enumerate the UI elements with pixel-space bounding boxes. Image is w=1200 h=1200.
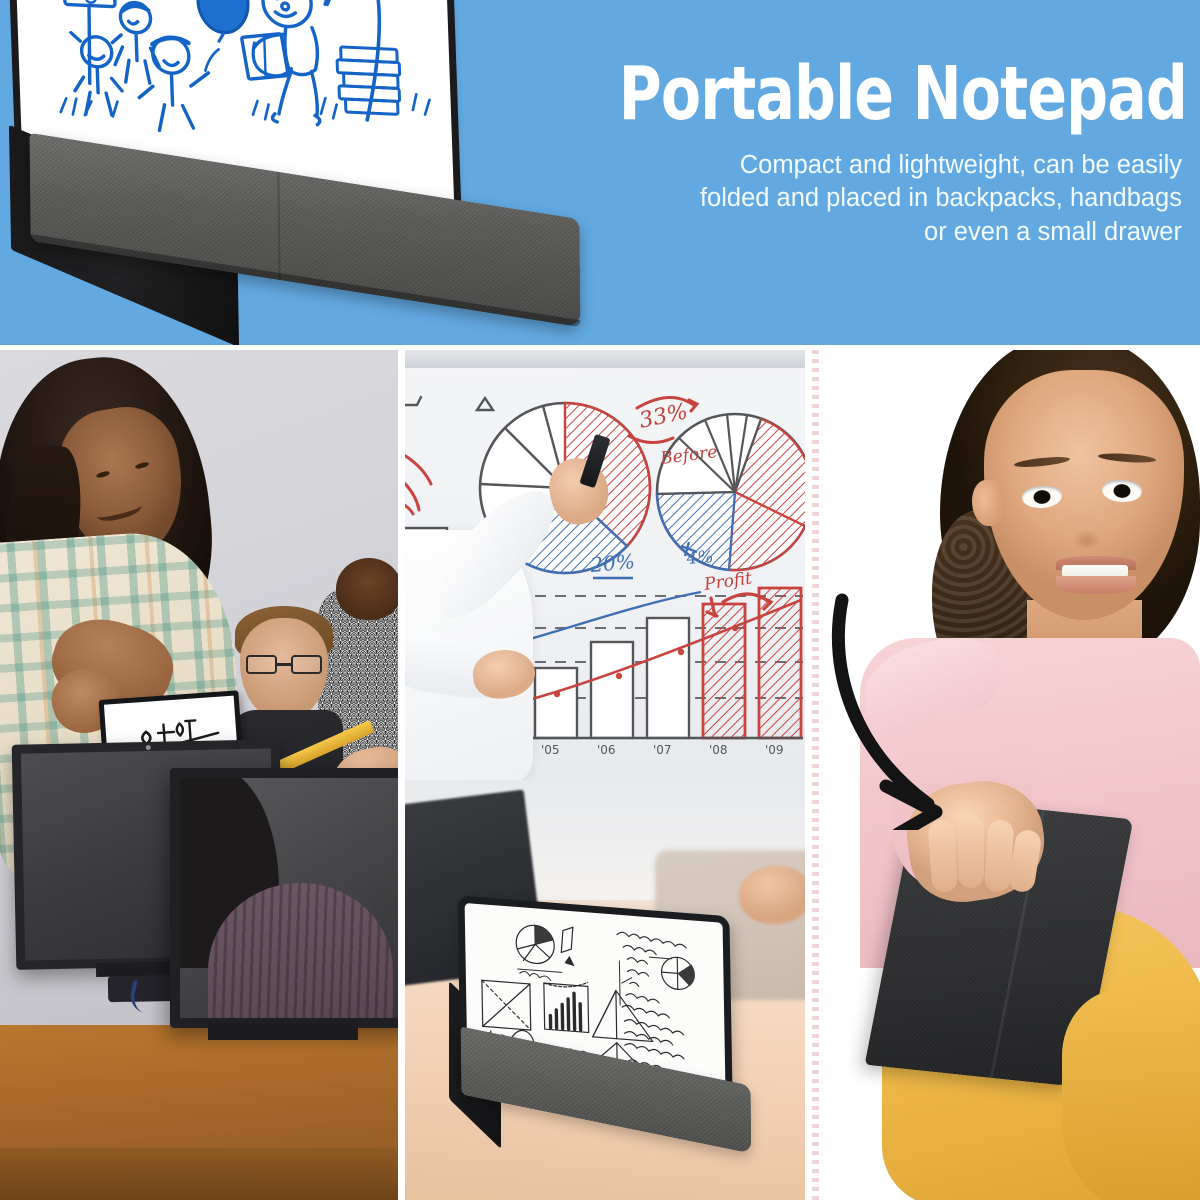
monitor-right [170,768,398,1028]
subtitle-line-1: Compact and lightweight, can be easily [542,149,1182,183]
svg-text:Profit: Profit [702,568,753,595]
hero-notepad-illustration [0,0,592,345]
yellow-bag-front [1062,990,1200,1200]
subtitle-line-3: or even a small drawer [542,216,1182,250]
svg-text:4%: 4% [685,547,714,569]
panel-girl-packing [812,350,1200,1200]
svg-text:'08: '08 [709,743,728,757]
girl-nose [1070,522,1104,548]
page-title: Portable Notepad [619,58,1182,131]
svg-text:'07: '07 [653,743,672,757]
notepad-on-desk [439,906,769,1156]
whiteboard-area: ALES [405,350,805,780]
eyeglasses-icon [246,655,322,675]
monitor-right-stand [208,1022,358,1040]
girl-lower-lip [1056,576,1136,594]
desk-scene [405,780,805,1200]
banner-copy: Portable Notepad Compact and lightweight… [542,58,1182,249]
curved-arrow-icon [824,590,1024,830]
photo-panel-row: ALES [0,350,1200,1200]
panel-whiteboard: ALES [405,350,805,1200]
svg-text:'05: '05 [541,743,560,757]
webcam-icon [146,745,151,750]
girl-ear [972,480,1002,526]
svg-text:'06: '06 [597,743,616,757]
girl-finger-1 [928,819,959,893]
hero-banner: Portable Notepad Compact and lightweight… [0,0,1200,345]
subtitle-line-2: folded and placed in backpacks, handbags [542,182,1182,216]
person-patterned-head [336,558,398,620]
panel-edge-artifact [812,350,819,1200]
desk-front-edge [0,1148,398,1200]
panel-classroom [0,350,398,1200]
base-seam [277,172,280,280]
product-listing-image: Portable Notepad Compact and lightweight… [0,0,1200,1200]
banner-subtitle: Compact and lightweight, can be easily f… [542,149,1182,250]
svg-text:20%: 20% [588,549,635,577]
svg-text:'09: '09 [765,743,784,757]
